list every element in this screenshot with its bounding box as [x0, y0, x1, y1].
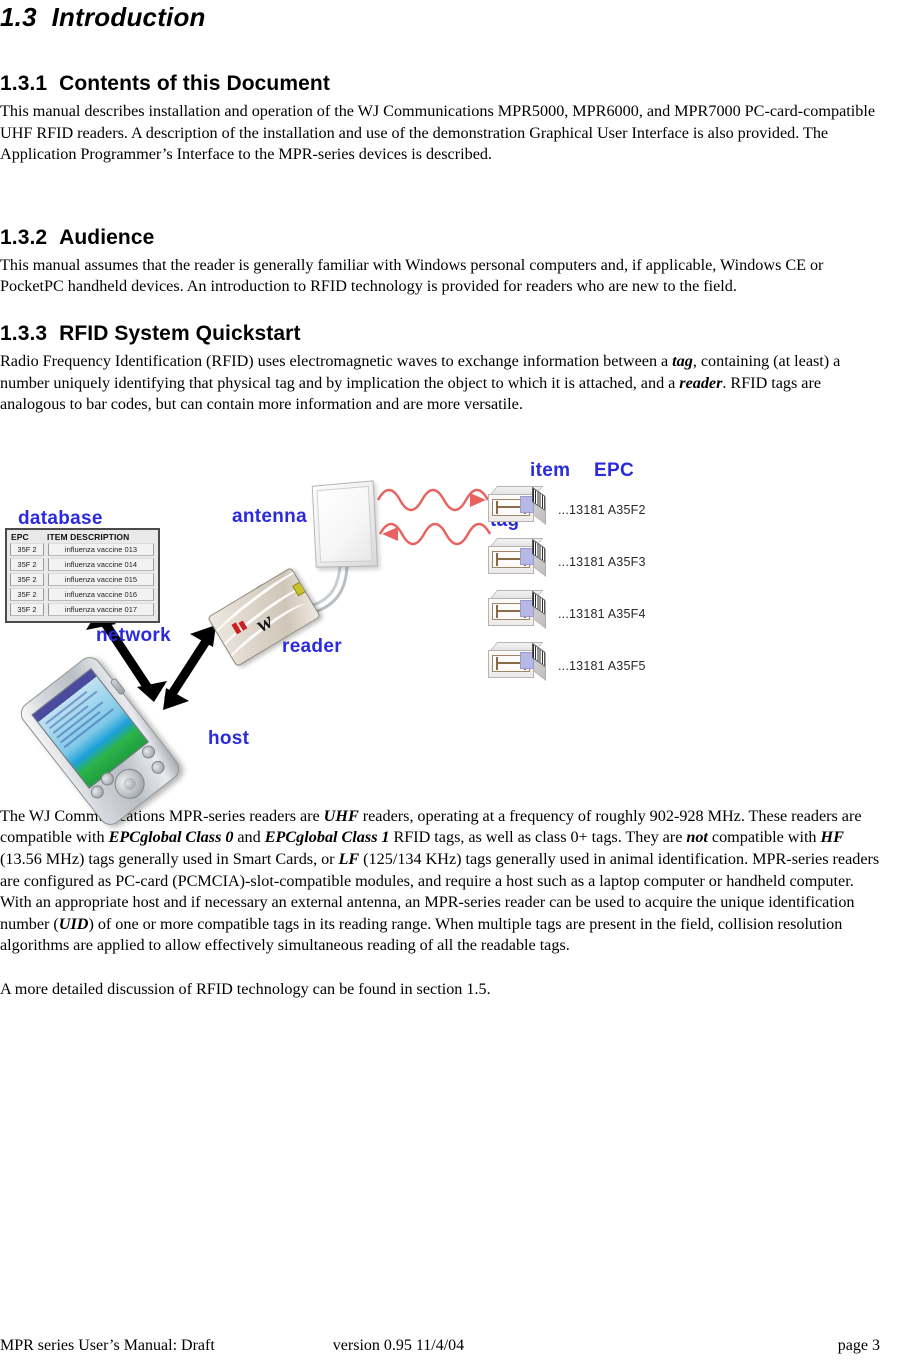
rf-wave-outbound-icon: [378, 490, 488, 510]
table-row: 35F 2 influenza vaccine 015: [10, 573, 155, 586]
subsection-number: 1.3.1: [0, 72, 47, 95]
tag-epc-value: ...13181 A35F5: [558, 659, 646, 673]
subsection-number: 1.3.3: [0, 322, 47, 345]
cell-description: influenza vaccine 014: [48, 558, 154, 571]
emphasis-uhf: UHF: [324, 807, 359, 825]
subsection-title: Audience: [59, 226, 154, 249]
figure-label-antenna: antenna: [232, 506, 307, 528]
cell-epc: 35F 2: [10, 588, 44, 601]
spacer: [0, 416, 880, 438]
emphasis-not: not: [686, 828, 708, 846]
footer-version: version 0.95 11/4/04: [333, 1337, 464, 1355]
cell-description: influenza vaccine 017: [48, 603, 154, 616]
emphasis-tag: tag: [672, 352, 693, 370]
item-box-icon: [488, 538, 544, 572]
section-number: 1.3: [0, 2, 37, 32]
column-header-epc: EPC: [11, 532, 47, 542]
heading-audience: 1.3.2 Audience: [0, 224, 880, 251]
antenna-panel-icon: [312, 480, 378, 567]
text-run: (13.56 MHz) tags generally used in Smart…: [0, 850, 339, 868]
cell-description: influenza vaccine 015: [48, 573, 154, 586]
emphasis-lf: LF: [339, 850, 360, 868]
text-run: ) of one or more compatible tags in its …: [0, 915, 842, 955]
page-footer: MPR series User’s Manual: Draft version …: [0, 1337, 880, 1355]
emphasis-epcglobal-class-0: EPCglobal Class 0: [109, 828, 234, 846]
paragraph-audience: This manual assumes that the reader is g…: [0, 255, 880, 298]
tag-epc-value: ...13181 A35F2: [558, 503, 646, 517]
emphasis-uid: UID: [59, 915, 89, 933]
heading-rfid-system-quickstart: 1.3.3 RFID System Quickstart: [0, 320, 880, 347]
paragraph-closing: A more detailed discussion of RFID techn…: [0, 979, 880, 1001]
subsection-title: Contents of this Document: [59, 72, 330, 95]
tag-epc-value: ...13181 A35F3: [558, 555, 646, 569]
column-header-item-description: ITEM DESCRIPTION: [47, 532, 129, 542]
figure-label-database: database: [18, 508, 103, 530]
rf-wave-inbound-icon: [380, 524, 490, 544]
section-title: Introduction: [52, 2, 206, 32]
text-run: and: [233, 828, 264, 846]
table-row: 35F 2 influenza vaccine 017: [10, 603, 155, 616]
document-page: 1.3 Introduction 1.3.1 Contents of this …: [0, 0, 898, 1369]
emphasis-epcglobal-class-1: EPCglobal Class 1: [265, 828, 390, 846]
footer-page-number: page 3: [838, 1337, 880, 1355]
cell-description: influenza vaccine 013: [48, 543, 154, 556]
text-run: RFID tags, as well as class 0+ tags. The…: [390, 828, 687, 846]
page-content: 1.3 Introduction 1.3.1 Contents of this …: [0, 0, 880, 1001]
figure-label-network: network: [96, 625, 171, 647]
figure-label-host: host: [208, 728, 249, 750]
spacer: [0, 957, 880, 979]
paragraph-mpr-series-details: The WJ Communications MPR-series readers…: [0, 806, 880, 957]
paragraph-rfid-quickstart: Radio Frequency Identification (RFID) us…: [0, 351, 880, 416]
heading-contents-of-this-document: 1.3.1 Contents of this Document: [0, 70, 880, 97]
spacer: [0, 298, 880, 320]
cell-epc: 35F 2: [10, 573, 44, 586]
database-table-header: EPC ITEM DESCRIPTION: [10, 532, 155, 543]
figure-label-item: item: [530, 460, 570, 482]
figure-label-reader: reader: [282, 636, 342, 658]
text-run: compatible with: [708, 828, 821, 846]
item-box-icon: [488, 642, 544, 676]
spacer: [0, 202, 880, 224]
footer-manual-title: MPR series User’s Manual: Draft: [0, 1337, 215, 1355]
spacer: [0, 34, 880, 70]
rfid-system-diagram: database EPC ITEM DESCRIPTION 35F 2 infl…: [0, 438, 880, 798]
table-row: 35F 2 influenza vaccine 013: [10, 543, 155, 556]
cell-description: influenza vaccine 016: [48, 588, 154, 601]
cell-epc: 35F 2: [10, 543, 44, 556]
text-run: The WJ Communications MPR-series readers…: [0, 807, 324, 825]
cell-epc: 35F 2: [10, 558, 44, 571]
page-title: 1.3 Introduction: [0, 0, 880, 34]
emphasis-hf: HF: [820, 828, 843, 846]
item-box-icon: [488, 590, 544, 624]
emphasis-reader: reader: [679, 374, 722, 392]
cell-epc: 35F 2: [10, 603, 44, 616]
item-box-icon: [488, 486, 544, 520]
database-table: EPC ITEM DESCRIPTION 35F 2 influenza vac…: [5, 528, 160, 623]
subsection-title: RFID System Quickstart: [59, 322, 300, 345]
tag-epc-value: ...13181 A35F4: [558, 607, 646, 621]
table-row: 35F 2 influenza vaccine 014: [10, 558, 155, 571]
paragraph-contents-of-this-document: This manual describes installation and o…: [0, 101, 880, 166]
figure-label-epc: EPC: [594, 460, 634, 482]
text-run: Radio Frequency Identification (RFID) us…: [0, 352, 672, 370]
spacer: [0, 166, 880, 202]
table-row: 35F 2 influenza vaccine 016: [10, 588, 155, 601]
subsection-number: 1.3.2: [0, 226, 47, 249]
